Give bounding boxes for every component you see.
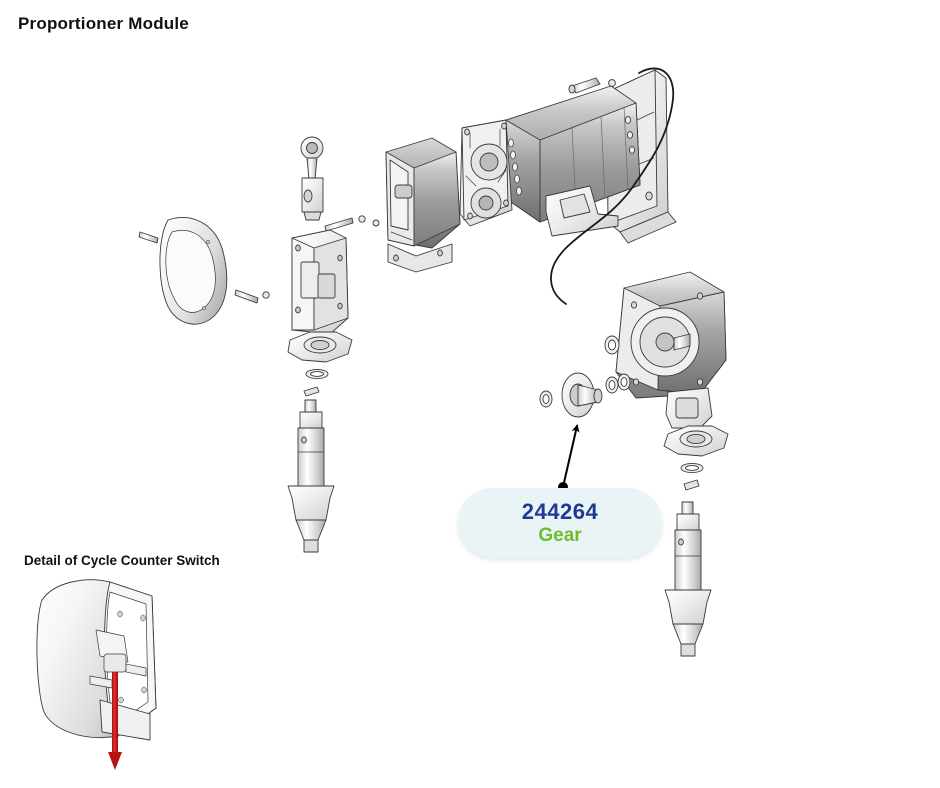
motor-gearbox-plate — [460, 120, 512, 226]
main-motor-assembly — [373, 68, 676, 304]
detail-view-cycle-counter-switch — [37, 580, 156, 770]
pin-key — [684, 480, 699, 490]
o-ring-seal — [306, 369, 328, 378]
cycle-counter-switch-housing — [37, 580, 156, 740]
left-pump-assembly — [139, 137, 365, 552]
gear-housing — [616, 272, 726, 428]
cover-screw-upper — [139, 232, 158, 243]
cover-screw-lower — [235, 290, 269, 303]
pump-lower-piston — [288, 400, 334, 552]
cover-shell — [160, 218, 227, 325]
pin-key-left — [304, 387, 319, 396]
o-ring-seal-right — [681, 463, 703, 472]
connecting-rod — [301, 137, 323, 220]
callout-leader-line — [558, 426, 577, 492]
washer-upper — [605, 336, 619, 354]
cover-screw-mid — [325, 216, 365, 231]
retaining-flange — [288, 332, 352, 362]
pump-lower-piston-right — [665, 502, 711, 656]
part-name: Gear — [538, 526, 581, 546]
exploded-parts-diagram — [0, 0, 940, 788]
valve-body-housing — [292, 230, 348, 334]
detail-view-caption: Detail of Cycle Counter Switch — [24, 553, 220, 568]
gear-disc — [562, 373, 602, 417]
retaining-flange-right — [664, 426, 728, 456]
part-number: 244264 — [522, 500, 598, 523]
part-callout-badge[interactable]: 244264 Gear — [458, 488, 662, 558]
motor-end-cap-left — [373, 138, 460, 272]
washer-pair — [606, 374, 630, 393]
washer-small — [540, 391, 552, 407]
